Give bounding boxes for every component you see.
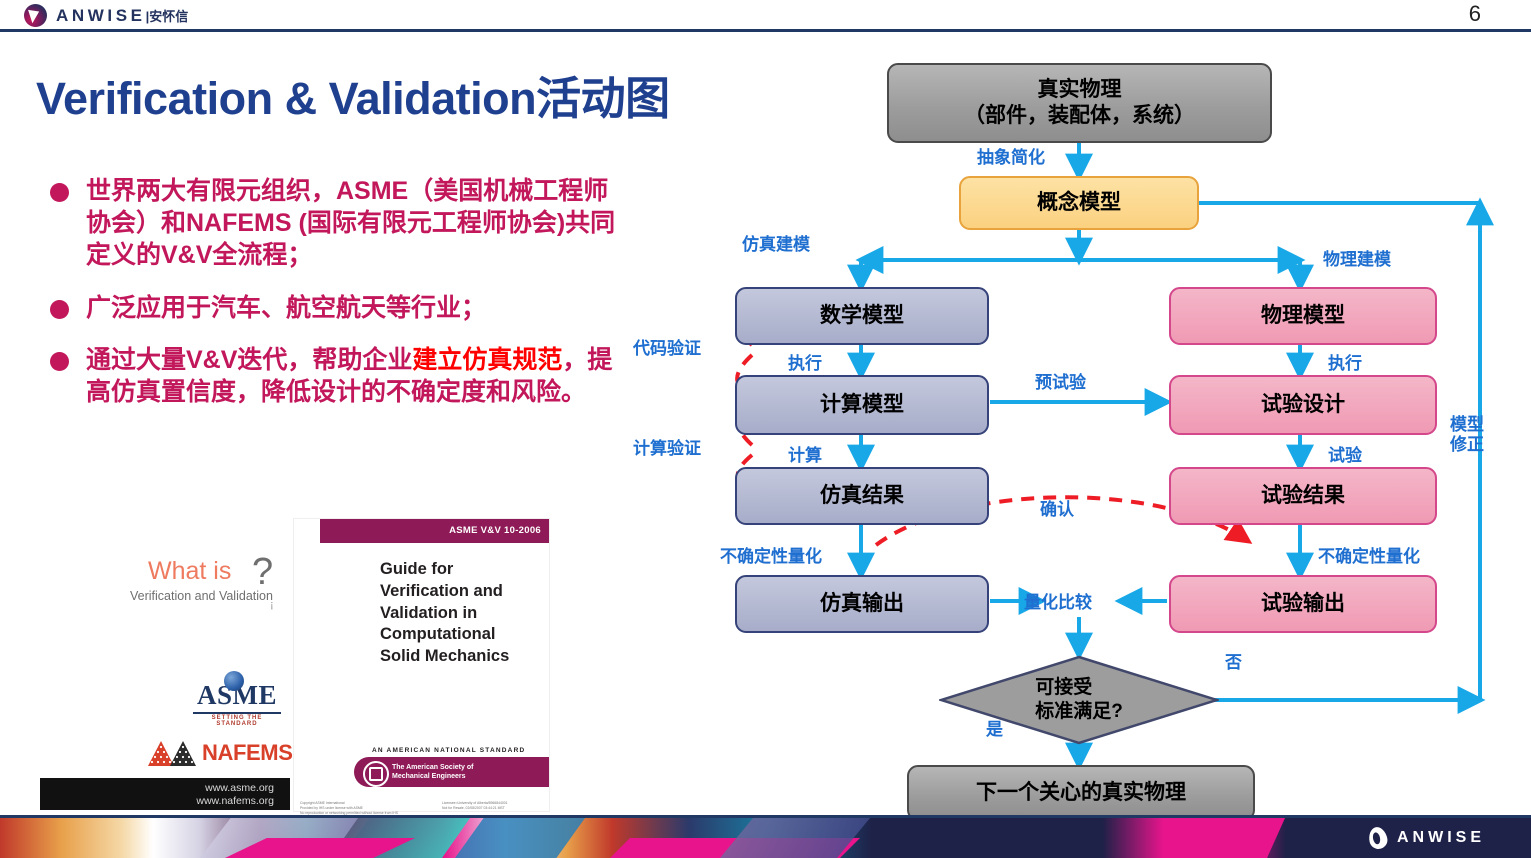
edge-label-yes: 是 [986, 715, 1003, 740]
node-label: 真实物理 （部件，装配体，系统） [964, 77, 1195, 130]
node-physical-model[interactable]: 物理模型 [1169, 287, 1437, 345]
whatis-dot: ¡ [270, 599, 274, 611]
node-computational-model[interactable]: 计算模型 [735, 375, 989, 435]
nafems-wordmark: NAFEMS [202, 740, 293, 766]
brand-name-cn: |安怀信 [146, 9, 189, 24]
edge-label-no: 否 [1225, 648, 1242, 673]
footer-brand-name: ANWISE [1397, 829, 1485, 847]
anwise-footer-mark-icon [1367, 825, 1389, 850]
edge-label-phys-modeling: 物理建模 [1323, 245, 1391, 270]
edge-label-quant-compare: 量化比较 [1024, 588, 1092, 613]
asme-logo-text: ASME [193, 680, 281, 711]
list-item: 世界两大有限元组织，ASME（美国机械工程师协会）和NAFEMS (国际有限元工… [50, 176, 630, 271]
asme-rule [193, 712, 281, 714]
node-next-physics[interactable]: 下一个关心的真实物理 [907, 765, 1255, 821]
node-label: 试验输出 [1261, 591, 1345, 617]
bullet-dot-icon [50, 183, 69, 202]
node-label: 数学模型 [820, 303, 904, 329]
bullet-dot-icon [50, 352, 69, 371]
brand-logo-text: ANWISE|安怀信 [56, 7, 188, 24]
edge-label-execute-right: 执行 [1328, 349, 1362, 374]
node-experiment-result[interactable]: 试验结果 [1169, 467, 1437, 525]
page-number: 6 [1469, 1, 1481, 27]
edge-label-abstraction: 抽象简化 [977, 143, 1045, 168]
bullet-text-before: 通过大量V&V迭代，帮助企业 [86, 346, 412, 374]
edge-label-model-update: 模型 修正 [1445, 415, 1489, 456]
nafems-triangle-icon [146, 738, 198, 768]
slide-footer: ANWISE [0, 818, 1531, 858]
bullet-list: 世界两大有限元组织，ASME（美国机械工程师协会）和NAFEMS (国际有限元工… [50, 176, 630, 425]
footer-shape-7 [1165, 818, 1285, 858]
asme-seal-icon [363, 761, 389, 787]
question-mark-icon: ? [252, 551, 273, 594]
brand-name: ANWISE [56, 6, 146, 25]
edge-label-calc-verification: 计算验证 [633, 434, 701, 459]
edge-label-execute-left: 执行 [788, 349, 822, 374]
nafems-url: www.nafems.org [196, 794, 274, 808]
slide-header: ANWISE|安怀信 6 [0, 0, 1531, 30]
node-real-physics[interactable]: 真实物理 （部件，装配体，系统） [887, 63, 1272, 143]
node-label: 概念模型 [1037, 190, 1121, 216]
node-decision[interactable]: 可接受 标准满足? [939, 655, 1219, 745]
list-item: 通过大量V&V迭代，帮助企业建立仿真规范，提高仿真置信度，降低设计的不确定度和风… [50, 345, 630, 409]
whatis-title: What is [148, 557, 231, 586]
edge-label-compute: 计算 [788, 441, 822, 466]
edge-label-uq-left: 不确定性量化 [720, 542, 822, 567]
bullet-dot-icon [50, 300, 69, 319]
edge-label-validation: 确认 [1040, 495, 1074, 520]
node-experiment-output[interactable]: 试验输出 [1169, 575, 1437, 633]
node-label: 下一个关心的真实物理 [976, 780, 1186, 806]
bullet-text: 通过大量V&V迭代，帮助企业建立仿真规范，提高仿真置信度，降低设计的不确定度和风… [86, 345, 630, 409]
book-footer-right: Licensee=University of Alberta/596684400… [442, 801, 508, 811]
node-conceptual-model[interactable]: 概念模型 [959, 176, 1199, 230]
node-experiment-design[interactable]: 试验设计 [1169, 375, 1437, 435]
whatis-vv-image: What is ? Verification and Validation ¡ [130, 555, 280, 609]
node-label: 可接受 标准满足? [939, 655, 1219, 745]
edge-label-pretest: 预试验 [1035, 368, 1086, 393]
node-math-model[interactable]: 数学模型 [735, 287, 989, 345]
vv-flowchart: 真实物理 （部件，装配体，系统） 概念模型 数学模型 计算模型 仿真结果 仿真输… [600, 55, 1531, 815]
edge-label-code-verification: 代码验证 [633, 334, 701, 359]
book-band: ASME V&V 10-2006 [320, 519, 549, 543]
globe-icon [224, 671, 244, 691]
bullet-text: 广泛应用于汽车、航空航天等行业； [86, 293, 486, 325]
node-label: 试验结果 [1261, 483, 1345, 509]
book-asme-bar: The American Society of Mechanical Engin… [354, 757, 549, 787]
url-bar: www.asme.org www.nafems.org [40, 778, 290, 810]
edge-label-sim-modeling: 仿真建模 [742, 230, 810, 255]
book-society-name: The American Society of Mechanical Engin… [392, 763, 473, 781]
node-label: 试验设计 [1261, 392, 1345, 418]
list-item: 广泛应用于汽车、航空航天等行业； [50, 293, 630, 325]
whatis-subtitle: Verification and Validation [130, 589, 273, 603]
edge-label-test: 试验 [1328, 441, 1362, 466]
book-code: ASME V&V 10-2006 [449, 525, 541, 536]
asme-tagline: SETTING THE STANDARD [193, 715, 281, 727]
book-standard-line: AN AMERICAN NATIONAL STANDARD [372, 747, 525, 754]
anwise-mark-icon [24, 4, 47, 27]
node-label: 仿真结果 [820, 483, 904, 509]
node-label: 计算模型 [820, 392, 904, 418]
node-simulation-result[interactable]: 仿真结果 [735, 467, 989, 525]
asme-logo: ASME SETTING THE STANDARD [193, 680, 281, 727]
node-label: 物理模型 [1261, 303, 1345, 329]
asme-book-cover: ASME V&V 10-2006 Guide for Verification … [293, 518, 550, 812]
node-simulation-output[interactable]: 仿真输出 [735, 575, 989, 633]
book-title: Guide for Verification and Validation in… [380, 559, 509, 668]
node-label: 仿真输出 [820, 591, 904, 617]
nafems-logo: NAFEMS [146, 738, 276, 768]
brand-logo: ANWISE|安怀信 [24, 3, 188, 28]
edge-label-uq-right: 不确定性量化 [1318, 542, 1420, 567]
footer-brand-logo: ANWISE [1369, 827, 1485, 849]
page-title: Verification & Validation活动图 [36, 62, 670, 127]
header-divider [0, 29, 1531, 32]
bullet-text-highlight: 建立仿真规范 [412, 346, 562, 374]
bullet-text: 世界两大有限元组织，ASME（美国机械工程师协会）和NAFEMS (国际有限元工… [86, 176, 630, 271]
